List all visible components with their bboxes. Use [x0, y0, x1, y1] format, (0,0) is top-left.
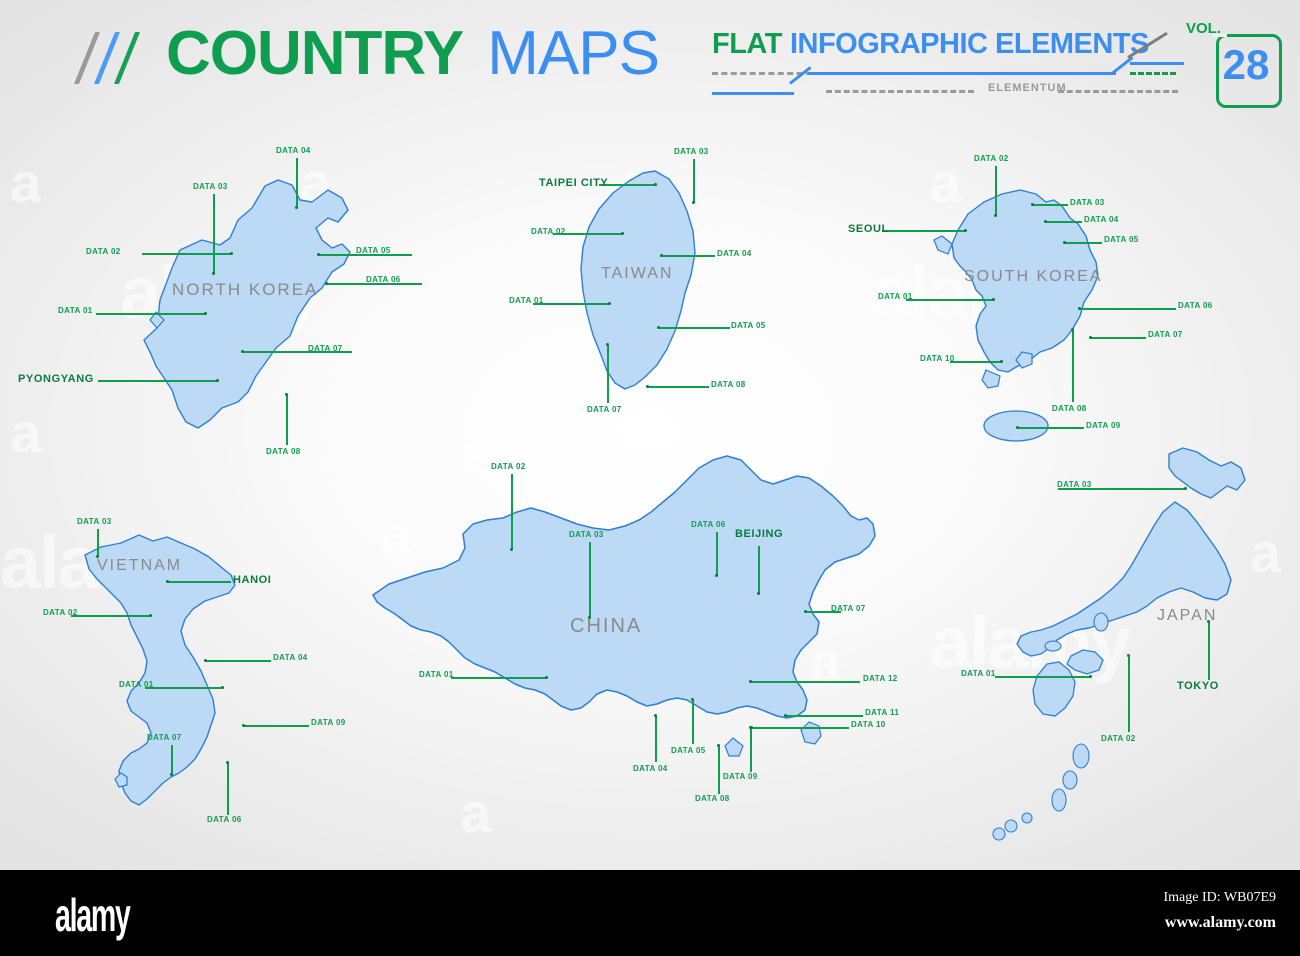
leader-line	[750, 681, 860, 683]
data-label: DATA 03	[77, 517, 112, 526]
leader-dot	[1063, 241, 1066, 244]
header-blue-line-top	[1130, 62, 1184, 65]
data-label: DATA 09	[723, 772, 758, 781]
leader-dot	[1089, 675, 1092, 678]
leader-line	[655, 716, 657, 762]
data-label: DATA 03	[193, 182, 228, 191]
leader-dot	[317, 253, 320, 256]
leader-line	[1064, 242, 1102, 244]
leader-dot	[170, 773, 173, 776]
leader-line	[243, 725, 309, 727]
leader-line	[227, 763, 229, 815]
capital-label-beijing: BEIJING	[735, 528, 783, 540]
leader-dot	[242, 724, 245, 727]
capital-dot	[216, 379, 219, 382]
leader-dot	[608, 302, 611, 305]
leader-line	[142, 253, 232, 255]
leader-line	[950, 361, 1002, 363]
logo-slashes-icon	[66, 32, 136, 84]
leader-dot	[1071, 328, 1074, 331]
map-taiwan[interactable]: TAIWAN DATA 03 TAIPEI CITY DATA 02 DATA …	[495, 135, 785, 425]
leader-dot	[715, 574, 718, 577]
vietnam-shape	[35, 505, 365, 840]
data-label: DATA 02	[531, 227, 566, 236]
leader-dot	[510, 548, 513, 551]
leader-line	[205, 660, 271, 662]
leader-line	[167, 581, 231, 583]
data-label: DATA 05	[671, 746, 706, 755]
title-maps: MAPS	[487, 19, 659, 88]
data-label: DATA 06	[691, 520, 726, 529]
leader-dot	[96, 555, 99, 558]
capital-label-seoul: SEOUL	[848, 223, 889, 235]
header-blue-line-mid	[808, 72, 986, 75]
page-title: COUNTRYMAPS	[166, 18, 659, 90]
subtitle-infographic-elements: INFOGRAPHIC ELEMENTS	[790, 28, 1149, 60]
leader-line	[758, 546, 760, 594]
leader-dot	[1016, 426, 1019, 429]
leader-line	[716, 532, 718, 576]
subtitle-flat: FLAT	[712, 28, 782, 60]
data-label: DATA 01	[419, 670, 454, 679]
data-label: DATA 10	[851, 720, 886, 729]
leader-dot	[325, 282, 328, 285]
capital-dot	[757, 592, 760, 595]
data-label: DATA 06	[207, 815, 242, 824]
data-label: DATA 05	[356, 246, 391, 255]
leader-dot	[994, 214, 997, 217]
leader-dot	[749, 726, 752, 729]
leader-dot	[212, 272, 215, 275]
leader-line	[692, 700, 694, 744]
alamy-url-text: www.alamy.com	[1165, 914, 1276, 932]
leader-dot	[992, 298, 995, 301]
map-vietnam[interactable]: VIETNAM DATA 03 HANOI DATA 02 DATA 04 DA…	[35, 505, 365, 840]
alamy-footer-bar: alamy Image ID: WB07E9 www.alamy.com	[0, 870, 1300, 956]
image-id-text: Image ID: WB07E9	[1164, 890, 1277, 906]
leader-line	[693, 159, 695, 203]
leader-line	[451, 677, 547, 679]
leader-dot	[149, 614, 152, 617]
data-label: DATA 02	[491, 462, 526, 471]
leader-dot	[691, 698, 694, 701]
leader-line	[785, 715, 863, 717]
leader-line	[1208, 622, 1210, 680]
leader-line	[1090, 337, 1146, 339]
header-blue-diag-step	[789, 66, 811, 84]
data-label: DATA 04	[276, 146, 311, 155]
leader-line	[171, 745, 173, 775]
data-label: DATA 06	[366, 275, 401, 284]
data-label: DATA 05	[731, 321, 766, 330]
leader-dot	[588, 616, 591, 619]
data-label: DATA 03	[1057, 480, 1092, 489]
capital-dot	[964, 229, 967, 232]
leader-dot	[692, 201, 695, 204]
data-label: DATA 04	[273, 653, 308, 662]
leader-dot	[606, 343, 609, 346]
map-north-korea[interactable]: NORTH KOREA DATA 04 DATA 03 DATA 02 DATA…	[60, 140, 460, 460]
leader-line	[286, 395, 288, 445]
leader-line	[145, 687, 223, 689]
infographic-canvas: COUNTRYMAPS FLATINFOGRAPHIC ELEMENTS ELE…	[0, 0, 1300, 956]
leader-line	[1128, 656, 1130, 732]
leader-line	[995, 166, 997, 216]
data-label: DATA 01	[878, 292, 913, 301]
leader-dot	[1184, 487, 1187, 490]
header-blue-line-low	[712, 92, 794, 95]
leader-dot	[646, 385, 649, 388]
leader-line	[750, 728, 752, 772]
leader-dot	[226, 761, 229, 764]
map-south-korea[interactable]: SOUTH KOREA DATA 02 DATA 03 DATA 04 DATA…	[840, 140, 1240, 450]
data-label: DATA 04	[1084, 215, 1119, 224]
watermark-letter: a	[10, 150, 41, 215]
header-gray-dash-right	[1058, 90, 1178, 93]
leader-line	[1032, 204, 1068, 206]
china-shape	[365, 450, 905, 810]
page-subtitle: FLATINFOGRAPHIC ELEMENTS	[712, 28, 1149, 61]
leader-dot	[749, 680, 752, 683]
data-label: DATA 05	[1104, 235, 1139, 244]
capital-label-tokyo: TOKYO	[1177, 680, 1219, 692]
leader-dot	[1089, 336, 1092, 339]
header-gray-dash-left	[826, 90, 974, 93]
header-green-dash	[1130, 72, 1176, 75]
capital-dot	[166, 580, 169, 583]
data-label: DATA 08	[1052, 404, 1087, 413]
leader-line	[658, 327, 730, 329]
leader-dot	[230, 252, 233, 255]
data-label: DATA 02	[1101, 734, 1136, 743]
leader-dot	[784, 714, 787, 717]
leader-line	[1018, 427, 1084, 429]
leader-line	[607, 345, 609, 403]
leader-line	[661, 255, 715, 257]
leader-line	[71, 615, 151, 617]
vol-number: 28	[1218, 42, 1274, 88]
data-label: DATA 07	[147, 733, 182, 742]
data-label: DATA 04	[717, 249, 752, 258]
header: COUNTRYMAPS FLATINFOGRAPHIC ELEMENTS ELE…	[0, 0, 1300, 120]
data-label: DATA 07	[1148, 330, 1183, 339]
alamy-logo: alamy	[55, 888, 130, 942]
leader-dot	[545, 676, 548, 679]
leader-dot	[1044, 220, 1047, 223]
data-label: DATA 11	[865, 708, 899, 717]
data-label: DATA 07	[308, 344, 343, 353]
leader-dot	[204, 312, 207, 315]
leader-line	[533, 303, 609, 305]
data-label: DATA 03	[1070, 198, 1105, 207]
data-label: DATA 07	[831, 604, 866, 613]
leader-line	[751, 727, 849, 729]
data-label: DATA 06	[1178, 301, 1213, 310]
leader-line	[589, 542, 591, 618]
data-label: DATA 02	[974, 154, 1009, 163]
leader-line	[995, 676, 1091, 678]
leader-line	[96, 313, 206, 315]
data-label: DATA 09	[311, 718, 346, 727]
data-label: DATA 01	[58, 306, 93, 315]
data-label: DATA 07	[587, 405, 622, 414]
leader-line	[718, 746, 720, 794]
capital-label-hanoi: HANOI	[233, 574, 271, 586]
leader-line	[906, 299, 994, 301]
leader-dot	[1031, 203, 1034, 206]
leader-dot	[1127, 654, 1130, 657]
leader-line	[97, 529, 99, 557]
japan-shape	[935, 440, 1275, 860]
data-label: DATA 08	[266, 447, 301, 456]
data-label: DATA 01	[961, 669, 996, 678]
leader-dot	[285, 393, 288, 396]
leader-dot	[654, 714, 657, 717]
leader-line	[647, 386, 709, 388]
leader-dot	[621, 232, 624, 235]
leader-dot	[204, 659, 207, 662]
leader-line	[511, 474, 513, 550]
leader-line	[98, 380, 218, 382]
leader-dot	[657, 326, 660, 329]
leader-dot	[804, 610, 807, 613]
capital-dot	[1207, 620, 1210, 623]
watermark-letter: a	[10, 400, 41, 465]
leader-line	[1045, 221, 1082, 223]
map-china[interactable]: CHINA DATA 02 DATA 03 DATA 06 BEIJING DA…	[365, 450, 905, 810]
leader-dot	[295, 206, 298, 209]
capital-label-taipei: TAIPEI CITY	[539, 177, 608, 189]
data-label: DATA 03	[569, 530, 604, 539]
data-label: DATA 01	[509, 296, 544, 305]
leader-line	[882, 230, 966, 232]
data-label: DATA 02	[43, 608, 78, 617]
volume-badge: VOL. 28	[1186, 18, 1278, 104]
capital-label-pyongyang: PYONGYANG	[18, 373, 94, 385]
title-country: COUNTRY	[166, 19, 463, 88]
leader-dot	[1000, 360, 1003, 363]
data-label: DATA 12	[863, 674, 898, 683]
data-label: DATA 02	[86, 247, 121, 256]
north-korea-shape	[60, 140, 460, 460]
data-label: DATA 01	[119, 680, 154, 689]
leader-dot	[241, 350, 244, 353]
data-label: DATA 09	[1086, 421, 1121, 430]
elementum-label: ELEMENTUM	[988, 82, 1067, 94]
capital-dot	[654, 183, 657, 186]
leader-dot	[717, 744, 720, 747]
leader-line	[213, 194, 215, 274]
leader-line	[296, 158, 298, 208]
vol-box-notch	[1213, 34, 1227, 37]
data-label: DATA 08	[711, 380, 746, 389]
header-blue-line-mid2	[986, 72, 1116, 75]
data-label: DATA 04	[633, 764, 668, 773]
leader-dot	[221, 686, 224, 689]
leader-dot	[660, 254, 663, 257]
leader-line	[1079, 308, 1176, 310]
leader-dot	[1078, 307, 1081, 310]
data-label: DATA 08	[695, 794, 730, 803]
data-label: DATA 10	[920, 354, 955, 363]
map-japan[interactable]: JAPAN DATA 03 TOKYO DATA 01 DATA 02	[935, 440, 1275, 860]
leader-line	[1072, 330, 1074, 402]
data-label: DATA 03	[674, 147, 709, 156]
